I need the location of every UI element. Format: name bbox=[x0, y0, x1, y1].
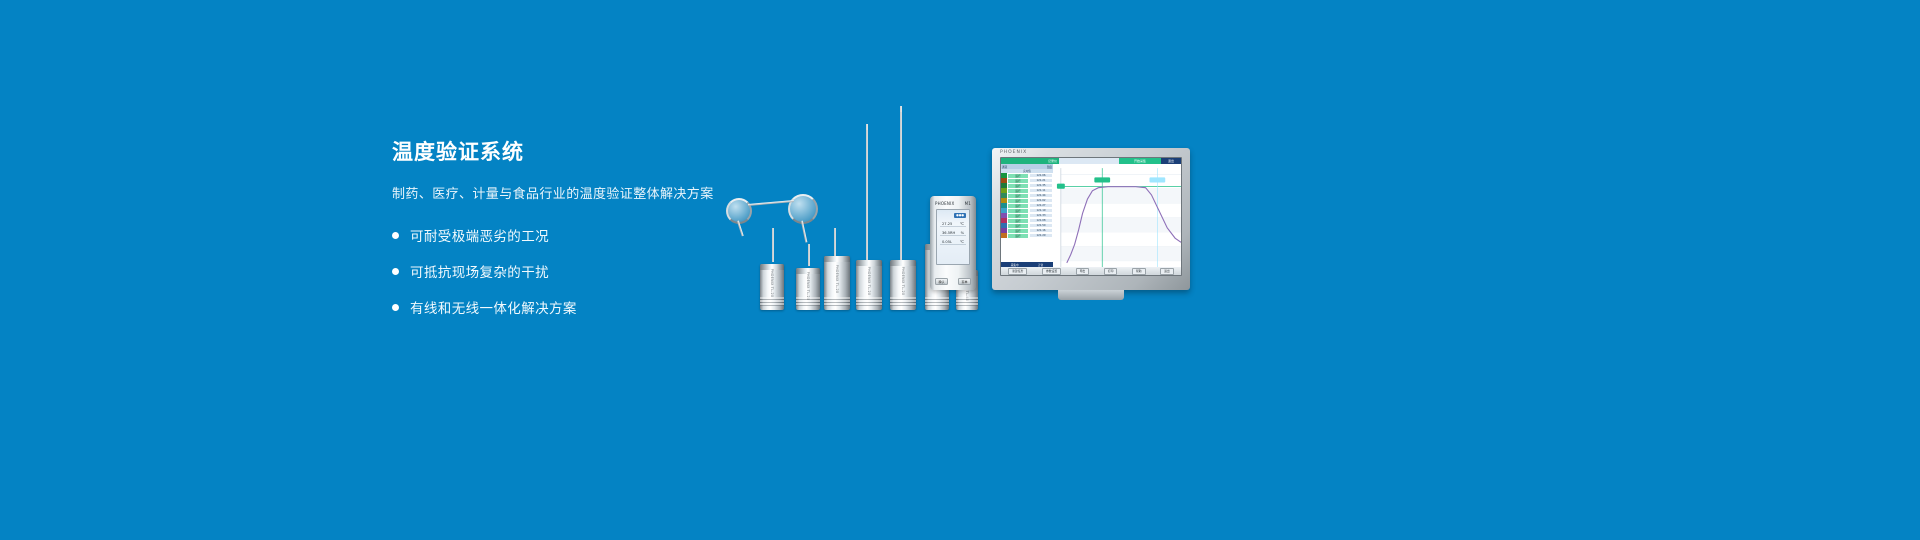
chart-svg bbox=[1053, 164, 1181, 267]
needle-probe-stem bbox=[834, 228, 836, 258]
reading-label: 27.25 bbox=[942, 222, 952, 226]
logger-label: PHOENIX TL-20 bbox=[806, 272, 810, 300]
bullet-dot-icon bbox=[392, 268, 399, 275]
reading-label: 0.05L bbox=[942, 240, 952, 244]
settings-button[interactable]: 参数设置 bbox=[1042, 268, 1061, 275]
handheld-model: M1 bbox=[965, 201, 971, 206]
needle-probe-stem bbox=[772, 228, 774, 262]
reading-unit: % bbox=[961, 231, 964, 235]
feature-label: 可耐受极端恶劣的工况 bbox=[410, 225, 549, 245]
column-header-channel: 通道 bbox=[1002, 165, 1007, 169]
handheld-keypad: 确认 菜单 bbox=[935, 278, 971, 285]
menu-button[interactable]: 菜单 bbox=[958, 278, 971, 285]
needle-probe-stem bbox=[900, 110, 902, 260]
logger-threads bbox=[760, 297, 784, 306]
channel-table: 通道 温度 实时值 运行121.06 运行121.21 运行121.35 运行1… bbox=[1001, 164, 1053, 267]
needle-probe-stem bbox=[808, 244, 810, 266]
bullet-dot-icon bbox=[392, 232, 399, 239]
logger-label: PHOENIX TL-20 bbox=[835, 264, 839, 292]
reading-row: 27.25 ℃ bbox=[940, 222, 966, 227]
monitor-bezel: 记录仪 开始采集 退出 通道 温度 实时值 bbox=[1000, 157, 1182, 276]
handheld-brand-row: PHOENIX M1 bbox=[935, 201, 971, 206]
logger-cap bbox=[824, 256, 850, 262]
coiled-probe-icon bbox=[788, 194, 818, 224]
help-button[interactable]: 帮助 bbox=[1132, 268, 1146, 275]
logger-threads bbox=[925, 297, 949, 306]
column-header-temp: 温度 bbox=[1047, 165, 1052, 169]
needle-probe-tip bbox=[866, 124, 868, 130]
needle-probe-tip bbox=[900, 106, 902, 112]
product-photo-group: PHOENIX TL-20 PHOENIX TL-20 PHOENIX TL-2… bbox=[720, 120, 1220, 310]
logger-label: PHOENIX TL-20 bbox=[901, 267, 905, 295]
data-logger: PHOENIX TL-20 bbox=[824, 256, 850, 310]
table-row[interactable]: 运行121.29 bbox=[1001, 233, 1053, 238]
logger-threads bbox=[856, 297, 882, 306]
export-button[interactable]: 导出 bbox=[1076, 268, 1090, 275]
footer-status: 采集中 bbox=[1011, 263, 1019, 267]
status-badge: ●●● bbox=[954, 213, 966, 218]
handheld-screen[interactable]: ●●● 27.25 ℃ 36.5RH % 0.05L ℃ bbox=[936, 209, 970, 265]
hero-banner: 温度验证系统 制药、医疗、计量与食品行业的温度验证整体解决方案 可耐受极端恶劣的… bbox=[0, 0, 1920, 540]
app-toolbar: 新建任务 参数设置 导出 打印 帮助 退出 bbox=[1001, 267, 1181, 275]
chart-band bbox=[1061, 189, 1181, 261]
data-logger: PHOENIX TL-20 bbox=[890, 260, 916, 310]
handheld-screen-statusbar: ●●● bbox=[940, 213, 966, 218]
reading-row: 0.05L ℃ bbox=[940, 240, 966, 245]
app-body: 通道 温度 实时值 运行121.06 运行121.21 运行121.35 运行1… bbox=[1001, 164, 1181, 267]
footer-state: 正常 bbox=[1038, 263, 1043, 267]
print-button[interactable]: 打印 bbox=[1104, 268, 1118, 275]
row-status: 运行 bbox=[1007, 233, 1029, 239]
logger-threads bbox=[956, 297, 978, 306]
new-task-button[interactable]: 新建任务 bbox=[1008, 268, 1027, 275]
confirm-button[interactable]: 确认 bbox=[935, 278, 948, 285]
needle-probe-stem bbox=[866, 128, 868, 260]
logger-threads bbox=[890, 297, 916, 306]
logger-threads bbox=[824, 297, 850, 306]
reading-row: 36.5RH % bbox=[940, 231, 966, 236]
data-logger: PHOENIX TL-20 bbox=[760, 264, 784, 310]
row-value: 121.29 bbox=[1029, 233, 1053, 238]
temperature-chart bbox=[1053, 164, 1181, 267]
handheld-reader[interactable]: PHOENIX M1 ●●● 27.25 ℃ 36.5RH % 0.05L ℃ bbox=[930, 196, 976, 290]
reading-unit: ℃ bbox=[960, 240, 964, 244]
reading-unit: ℃ bbox=[960, 222, 964, 226]
bullet-dot-icon bbox=[392, 304, 399, 311]
monitor-stand bbox=[1058, 290, 1124, 300]
data-logger: PHOENIX TL-20 bbox=[796, 268, 820, 310]
data-logger: PHOENIX TL-20 bbox=[856, 260, 882, 310]
handheld-brand: PHOENIX bbox=[935, 201, 954, 206]
logger-label: PHOENIX TL-20 bbox=[770, 269, 774, 297]
probe-wire bbox=[748, 200, 794, 206]
logger-cap bbox=[890, 260, 916, 266]
table-body: 运行121.06 运行121.21 运行121.35 运行121.11 运行12… bbox=[1001, 173, 1053, 262]
software-window: 记录仪 开始采集 退出 通道 温度 实时值 bbox=[1001, 158, 1181, 275]
logger-threads bbox=[796, 297, 820, 306]
feature-label: 有线和无线一体化解决方案 bbox=[410, 297, 577, 317]
logger-label: PHOENIX TL-20 bbox=[867, 267, 871, 295]
coiled-probe-icon bbox=[726, 198, 752, 224]
monitor-brand: PHOENIX bbox=[1000, 150, 1027, 155]
feature-label: 可抵抗现场复杂的干扰 bbox=[410, 261, 549, 281]
monitor-display: PHOENIX 记录仪 开始采集 退出 通道 温度 bbox=[992, 148, 1190, 290]
logger-cap bbox=[856, 260, 882, 266]
quit-button[interactable]: 退出 bbox=[1160, 268, 1174, 275]
reading-label: 36.5RH bbox=[942, 231, 955, 235]
